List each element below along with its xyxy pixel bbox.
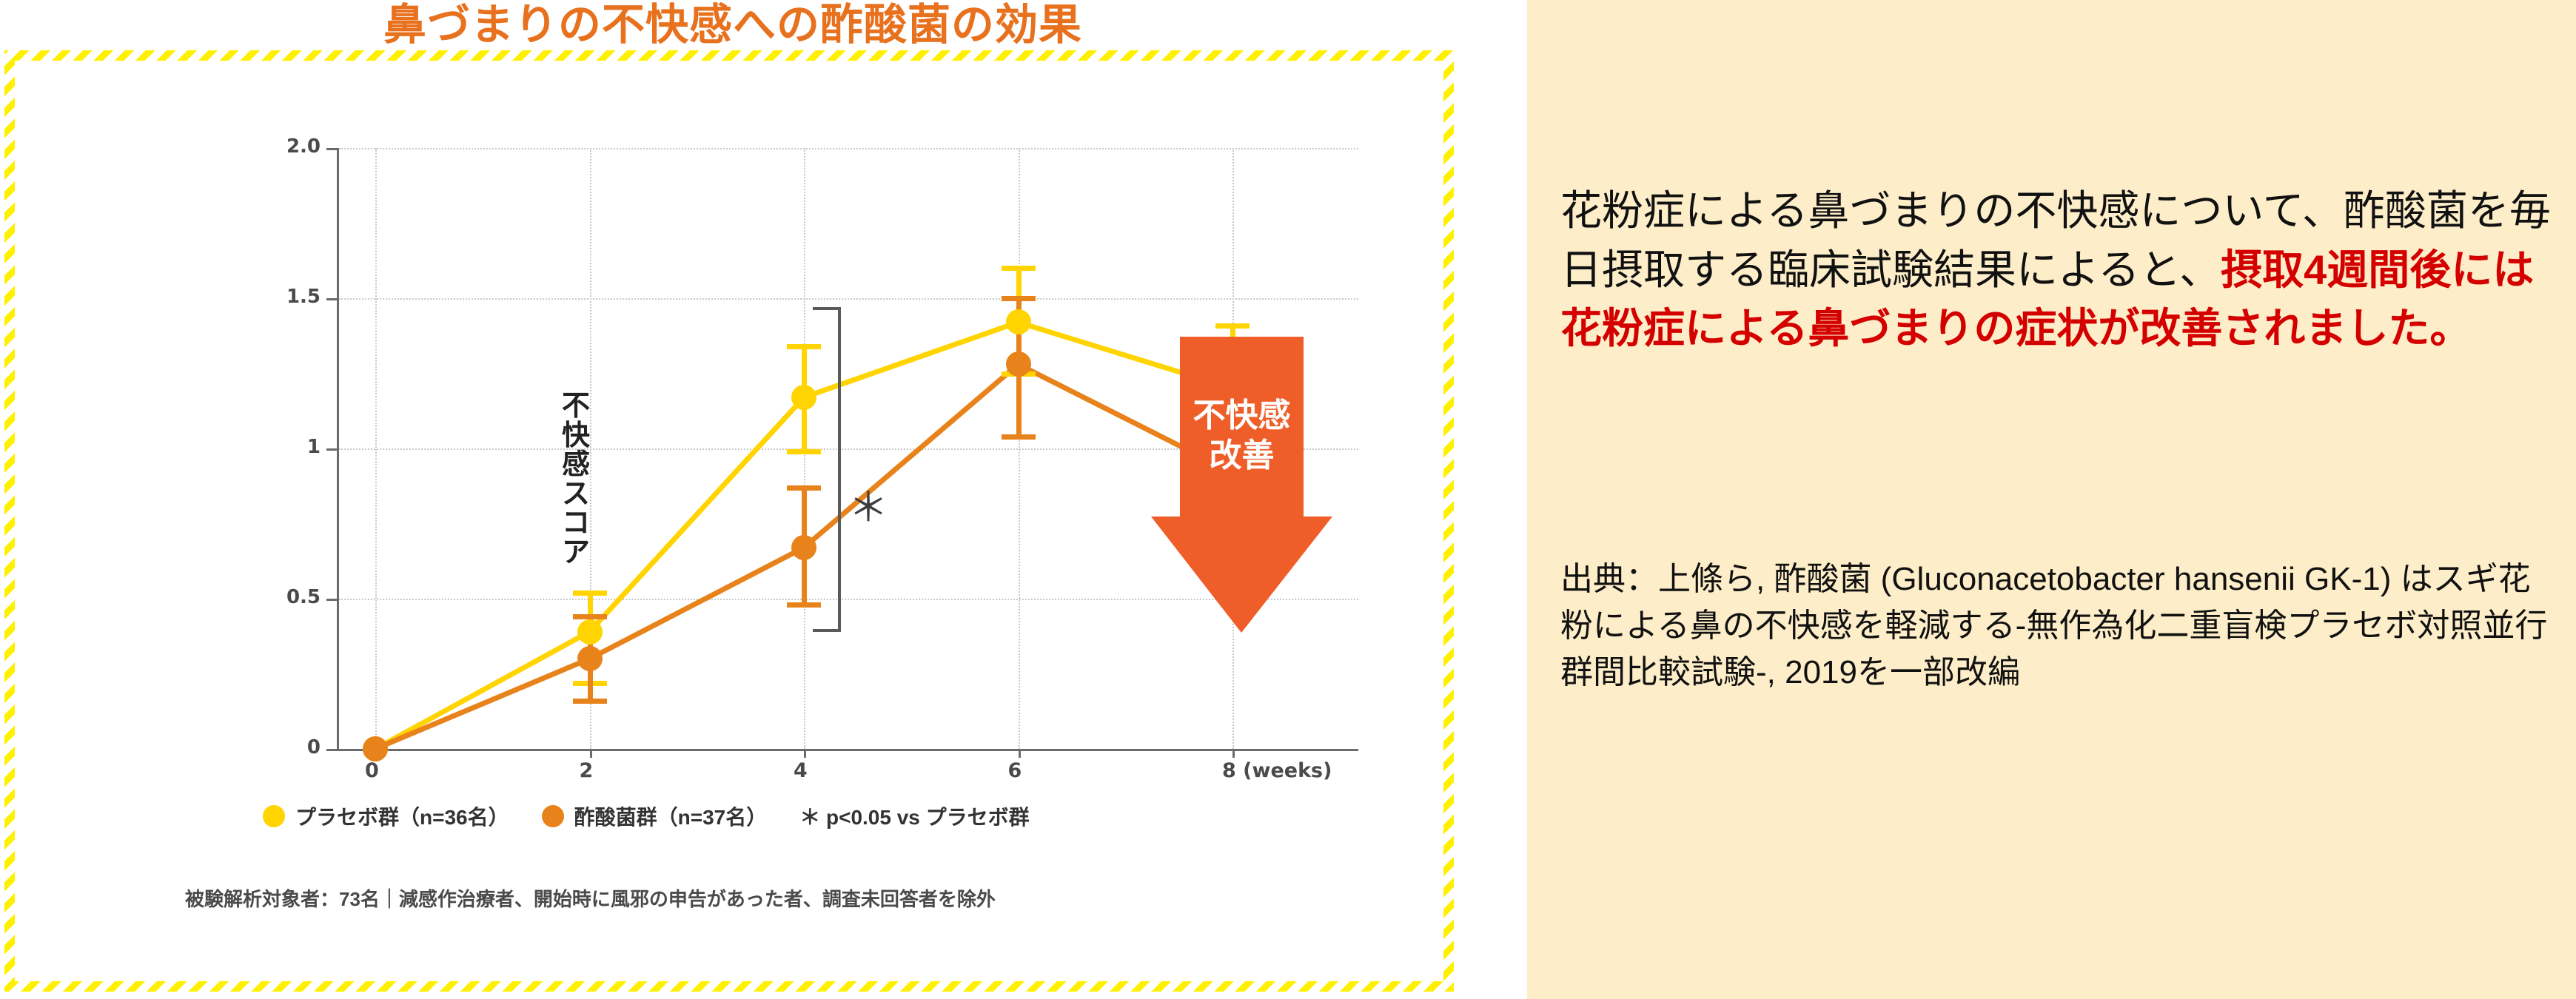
y-axis-tick xyxy=(326,599,337,601)
y-axis-tick-label: 1 xyxy=(254,436,321,458)
legend-item-placebo: プラセボ群（n=36名） xyxy=(263,801,509,831)
x-axis-tick-label: 4 xyxy=(794,759,808,782)
error-bar-cap xyxy=(573,591,607,596)
chart-panel: 鼻づまりの不快感への酢酸菌の効果 不快感スコア 2.01.510.5002468… xyxy=(0,0,1527,999)
data-point-marker xyxy=(363,736,388,761)
improvement-arrow: 不快感 改善 xyxy=(1151,337,1332,633)
y-axis-tick xyxy=(326,148,337,150)
x-axis-tick-label: 2 xyxy=(580,759,594,782)
significance-bracket xyxy=(813,307,841,631)
legend-dot-placebo-icon xyxy=(263,805,285,827)
y-axis-tick-label: 0.5 xyxy=(254,586,321,608)
x-axis-tick-label: 8 (weeks) xyxy=(1222,759,1332,782)
source-citation: 出典：上條ら, 酢酸菌 (Gluconacetobacter hansenii … xyxy=(1560,556,2552,696)
arrow-head xyxy=(1151,517,1332,633)
y-axis-tick xyxy=(326,298,337,300)
arrow-label: 不快感 改善 xyxy=(1151,396,1332,475)
error-bar-cap xyxy=(573,699,607,704)
x-axis-tick xyxy=(804,749,806,758)
arrow-label-line1: 不快感 xyxy=(1151,396,1332,436)
x-axis-tick xyxy=(590,749,592,758)
x-axis-tick xyxy=(1232,749,1235,758)
data-point-marker xyxy=(577,619,603,645)
y-axis-tick-label: 2.0 xyxy=(254,135,321,158)
x-axis-tick-label: 0 xyxy=(365,759,379,782)
headline-text: 花粉症による鼻づまりの不快感について、酢酸菌を毎日摂取する臨床試験結果によると、… xyxy=(1560,181,2552,358)
y-axis-tick-label: 0 xyxy=(254,736,321,758)
chart-footnote: 被験解析対象者：73名｜減感作治療者、開始時に風邪の申告があった者、調査未回答者… xyxy=(185,884,996,912)
description-panel: 花粉症による鼻づまりの不快感について、酢酸菌を毎日摂取する臨床試験結果によると、… xyxy=(1527,0,2576,999)
legend-significance-note: ＊ p<0.05 vs プラセボ群 xyxy=(799,801,1029,831)
page-title: 鼻づまりの不快感への酢酸菌の効果 xyxy=(0,0,1466,52)
y-axis-tick xyxy=(326,749,337,751)
data-point-marker xyxy=(1006,309,1031,334)
data-point-marker xyxy=(577,646,603,671)
x-axis-tick xyxy=(1019,749,1021,758)
legend-label-acetic: 酢酸菌群（n=37名） xyxy=(574,801,768,831)
x-axis-tick-label: 6 xyxy=(1008,759,1022,782)
legend-label-placebo: プラセボ群（n=36名） xyxy=(295,801,509,831)
legend-item-acetic: 酢酸菌群（n=37名） xyxy=(542,801,768,831)
error-bar-cap xyxy=(1002,296,1036,301)
error-bar-cap xyxy=(1215,323,1250,329)
error-bar-cap xyxy=(1002,434,1036,440)
error-bar-cap xyxy=(1002,266,1036,271)
x-axis-line xyxy=(337,749,1358,751)
significance-asterisk: ＊ xyxy=(848,488,888,528)
y-axis-tick xyxy=(326,448,337,451)
data-point-marker xyxy=(1006,351,1031,377)
legend-dot-acetic-icon xyxy=(542,805,564,827)
y-axis-tick-label: 1.5 xyxy=(254,286,321,308)
arrow-label-line2: 改善 xyxy=(1151,436,1332,476)
chart-legend: プラセボ群（n=36名） 酢酸菌群（n=37名） ＊ p<0.05 vs プラセ… xyxy=(263,801,1030,831)
